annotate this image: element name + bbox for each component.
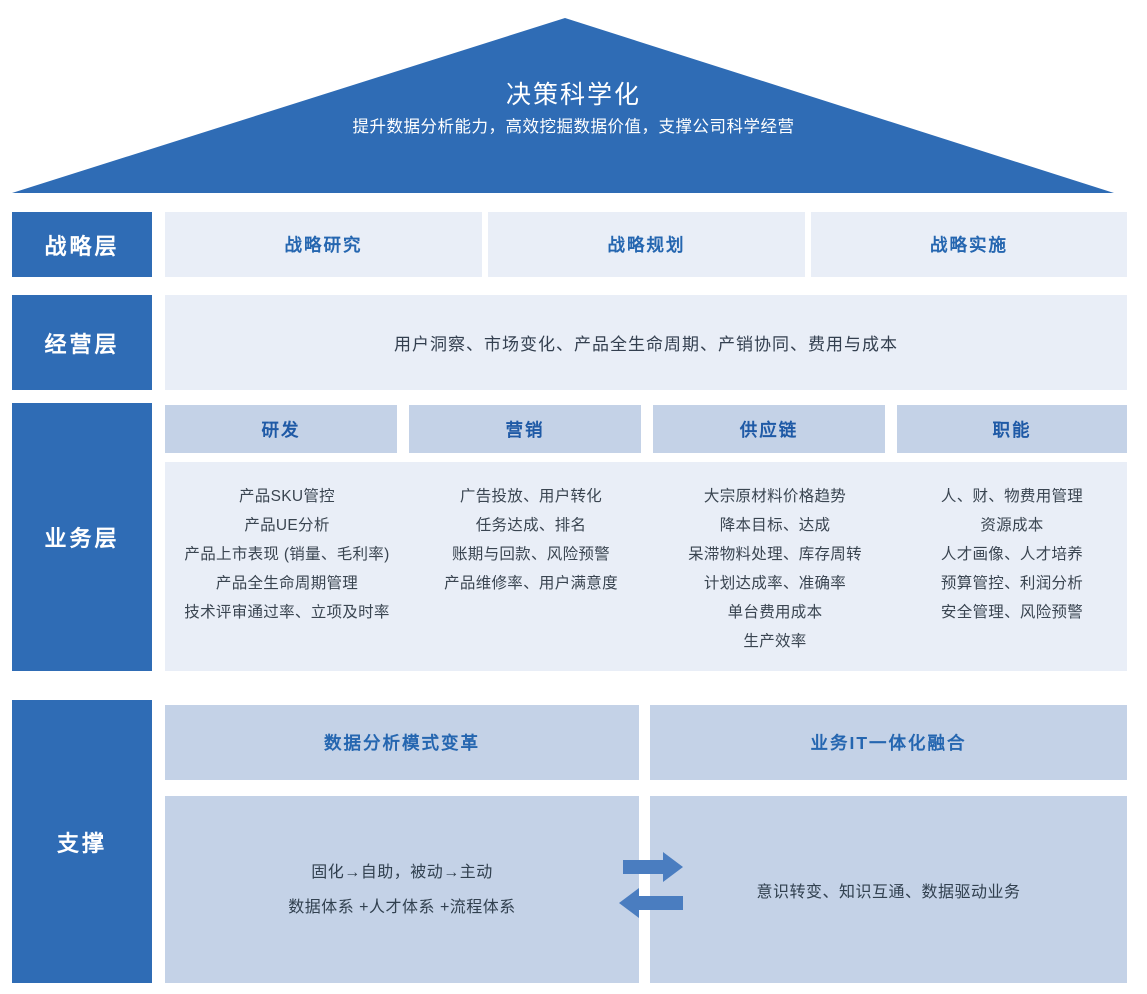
layer-label-strategy: 战略层 bbox=[12, 212, 152, 277]
business-line: 产品SKU管控 bbox=[239, 482, 335, 511]
strategy-item-implementation[interactable]: 战略实施 bbox=[811, 212, 1127, 277]
strategy-item-research[interactable]: 战略研究 bbox=[165, 212, 482, 277]
support-header-label: 业务IT一体化融合 bbox=[810, 730, 966, 755]
support-lines-group: 固化→自助，被动→主动 数据体系 +人才体系 +流程体系 bbox=[288, 855, 516, 925]
operation-panel: 用户洞察、市场变化、产品全生命周期、产销协同、费用与成本 bbox=[165, 295, 1127, 390]
business-line: 人才画像、人才培养 bbox=[941, 540, 1083, 569]
support-header-analytics-transformation[interactable]: 数据分析模式变革 bbox=[165, 705, 639, 780]
arrow-left-icon bbox=[619, 888, 683, 918]
strategy-item-planning[interactable]: 战略规划 bbox=[488, 212, 805, 277]
business-line: 产品全生命周期管理 bbox=[216, 569, 358, 598]
strategy-item-label: 战略研究 bbox=[285, 232, 363, 257]
layer-label-support: 支撑 bbox=[12, 700, 152, 983]
business-line: 预算管控、利润分析 bbox=[941, 569, 1083, 598]
strategy-item-label: 战略规划 bbox=[608, 232, 686, 257]
business-line: 降本目标、达成 bbox=[720, 511, 831, 540]
business-line: 人、财、物费用管理 bbox=[941, 482, 1083, 511]
support-header-label: 数据分析模式变革 bbox=[324, 730, 480, 755]
business-header-label: 营销 bbox=[506, 417, 545, 442]
roof-triangle: 决策科学化 提升数据分析能力，高效挖掘数据价值，支撑公司科学经营 bbox=[0, 0, 1147, 195]
support-line: 固化→自助，被动→主动 bbox=[288, 855, 516, 890]
business-line: 广告投放、用户转化 bbox=[460, 482, 602, 511]
business-column-supply-chain: 大宗原材料价格趋势 降本目标、达成 呆滞物料处理、库存周转 计划达成率、准确率 … bbox=[653, 462, 897, 671]
business-column-marketing: 广告投放、用户转化 任务达成、排名 账期与回款、风险预警 产品维修率、用户满意度 bbox=[409, 462, 653, 671]
business-column-rnd: 产品SKU管控 产品UE分析 产品上市表现 (销量、毛利率) 产品全生命周期管理… bbox=[165, 462, 409, 671]
business-line: 计划达成率、准确率 bbox=[704, 569, 846, 598]
business-line: 呆滞物料处理、库存周转 bbox=[688, 540, 862, 569]
support-line: 数据体系 +人才体系 +流程体系 bbox=[288, 890, 516, 925]
business-header-marketing[interactable]: 营销 bbox=[409, 405, 641, 453]
support-header-it-integration[interactable]: 业务IT一体化融合 bbox=[650, 705, 1127, 780]
business-header-label: 职能 bbox=[993, 417, 1032, 442]
arrow-right-icon bbox=[623, 852, 683, 882]
business-header-supply-chain[interactable]: 供应链 bbox=[653, 405, 885, 453]
business-line: 产品上市表现 (销量、毛利率) bbox=[184, 540, 389, 569]
business-line: 安全管理、风险预警 bbox=[941, 598, 1083, 627]
business-header-label: 供应链 bbox=[740, 417, 799, 442]
business-column-function: 人、财、物费用管理 资源成本 人才画像、人才培养 预算管控、利润分析 安全管理、… bbox=[897, 462, 1127, 671]
strategy-item-label: 战略实施 bbox=[930, 232, 1008, 257]
bidirectional-arrows-group bbox=[611, 850, 691, 930]
layer-label-business: 业务层 bbox=[12, 403, 152, 671]
business-line: 账期与回款、风险预警 bbox=[452, 540, 610, 569]
business-line: 产品UE分析 bbox=[244, 511, 329, 540]
business-line: 单台费用成本 bbox=[728, 598, 823, 627]
business-body-panel: 产品SKU管控 产品UE分析 产品上市表现 (销量、毛利率) 产品全生命周期管理… bbox=[165, 462, 1127, 671]
layer-label-operation: 经营层 bbox=[12, 295, 152, 390]
business-line: 任务达成、排名 bbox=[476, 511, 587, 540]
business-line: 资源成本 bbox=[980, 511, 1043, 540]
business-header-label: 研发 bbox=[262, 417, 301, 442]
business-line: 产品维修率、用户满意度 bbox=[444, 569, 618, 598]
diagram-canvas: 决策科学化 提升数据分析能力，高效挖掘数据价值，支撑公司科学经营 战略层 战略研… bbox=[0, 0, 1147, 994]
business-header-function[interactable]: 职能 bbox=[897, 405, 1127, 453]
support-body-analytics-transformation: 固化→自助，被动→主动 数据体系 +人才体系 +流程体系 bbox=[165, 796, 639, 983]
business-line: 技术评审通过率、立项及时率 bbox=[184, 598, 389, 627]
operation-content: 用户洞察、市场变化、产品全生命周期、产销协同、费用与成本 bbox=[394, 330, 898, 355]
business-line: 大宗原材料价格趋势 bbox=[704, 482, 846, 511]
business-header-rnd[interactable]: 研发 bbox=[165, 405, 397, 453]
business-line: 生产效率 bbox=[743, 627, 806, 656]
support-body-it-integration: 意识转变、知识互通、数据驱动业务 bbox=[650, 796, 1127, 983]
support-line: 意识转变、知识互通、数据驱动业务 bbox=[756, 878, 1020, 902]
